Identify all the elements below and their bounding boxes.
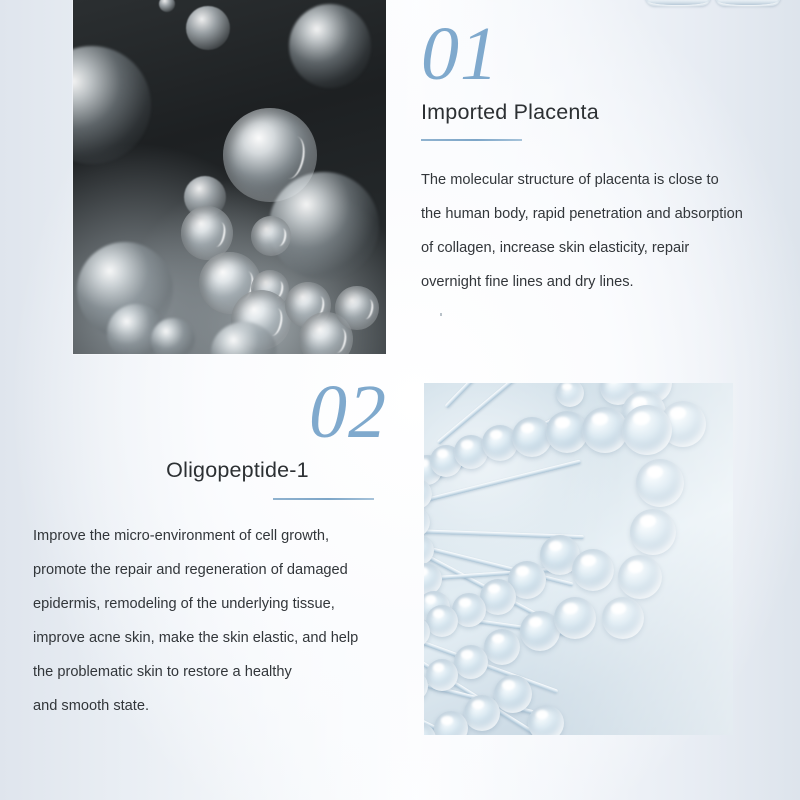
section-01-number: 01	[421, 18, 800, 90]
dna-helix-image	[424, 383, 733, 735]
body-line: epidermis, remodeling of the underlying …	[33, 587, 420, 621]
body-line: of collagen, increase skin elasticity, r…	[421, 231, 800, 265]
section-02-title: Oligopeptide-1	[0, 458, 420, 483]
section-02-body: Improve the micro-environment of cell gr…	[33, 519, 420, 723]
body-line: overnight fine lines and dry lines.	[421, 265, 800, 299]
jar-left	[645, 0, 711, 6]
section-01-title: Imported Placenta	[421, 100, 800, 125]
body-line: the human body, rapid penetration and ab…	[421, 197, 800, 231]
body-line: the problematic skin to restore a health…	[33, 655, 420, 689]
cosmetic-jars-crop	[640, 0, 785, 8]
jar-right	[715, 0, 781, 6]
section-02-divider	[273, 498, 374, 500]
body-line: promote the repair and regeneration of d…	[33, 553, 420, 587]
body-line: Improve the micro-environment of cell gr…	[33, 519, 420, 553]
section-01-divider	[421, 139, 522, 141]
stray-dot-mark	[440, 313, 442, 316]
body-line: and smooth state.	[33, 689, 420, 723]
product-ingredients-infographic: 01 Imported Placenta The molecular struc…	[0, 0, 800, 800]
section-01: 01 Imported Placenta The molecular struc…	[421, 18, 800, 299]
bubbles-image	[73, 0, 386, 354]
highlight-veil	[424, 383, 733, 735]
section-01-body: The molecular structure of placenta is c…	[421, 163, 800, 299]
section-02-number: 02	[0, 376, 420, 448]
body-line: improve acne skin, make the skin elastic…	[33, 621, 420, 655]
section-02: 02 Oligopeptide-1 Improve the micro-envi…	[0, 376, 420, 723]
body-line: The molecular structure of placenta is c…	[421, 163, 800, 197]
